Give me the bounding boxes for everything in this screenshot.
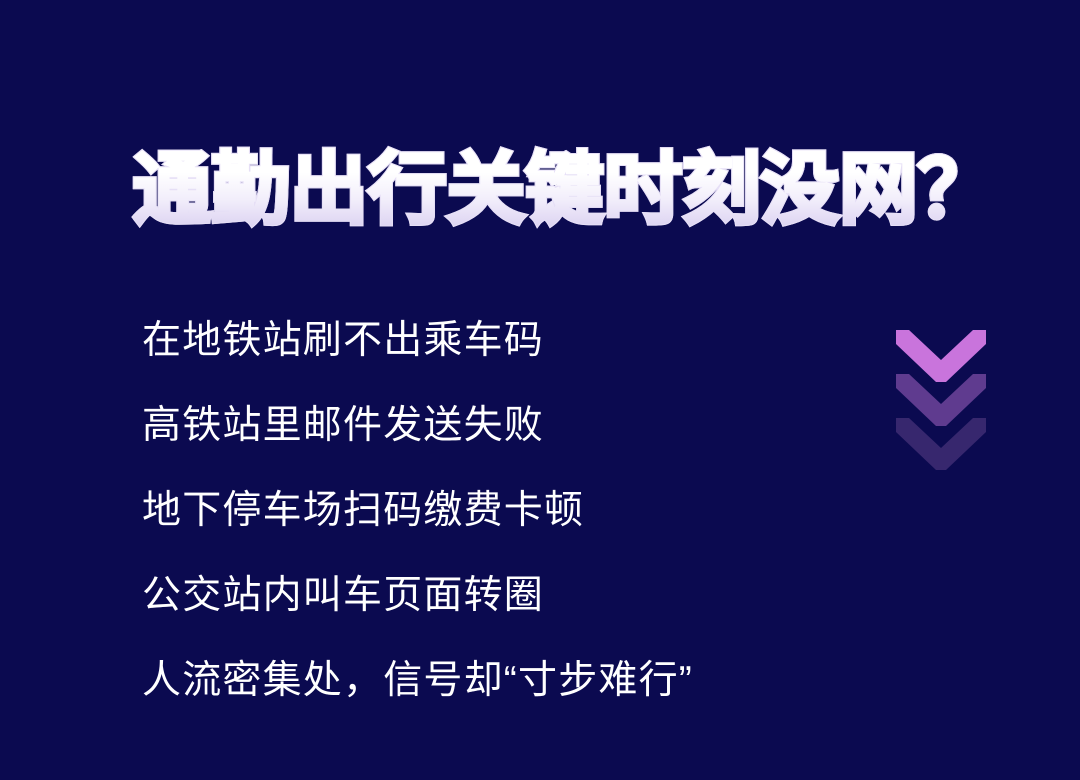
list-item: 公交站内叫车页面转圈 [142, 573, 782, 619]
list-item: 人流密集处，信号却“寸步难行” [142, 658, 782, 704]
list-item: 高铁站里邮件发送失败 [142, 403, 782, 449]
page-title: 通勤出行关键时刻没网？ [133, 137, 1033, 241]
pain-point-list: 在地铁站刷不出乘车码 高铁站里邮件发送失败 地下停车场扫码缴费卡顿 公交站内叫车… [142, 318, 782, 704]
chevron-down-icon-3 [896, 418, 986, 470]
headline-container: 通勤出行关键时刻没网？ 通勤出行关键时刻没网？ [133, 137, 1033, 247]
list-item: 在地铁站刷不出乘车码 [142, 318, 782, 364]
list-item: 地下停车场扫码缴费卡顿 [142, 488, 782, 534]
chevron-stack [896, 330, 988, 470]
promo-poster: 通勤出行关键时刻没网？ 通勤出行关键时刻没网？ 在地铁站刷不出乘车码 高铁站里邮… [0, 0, 1080, 780]
